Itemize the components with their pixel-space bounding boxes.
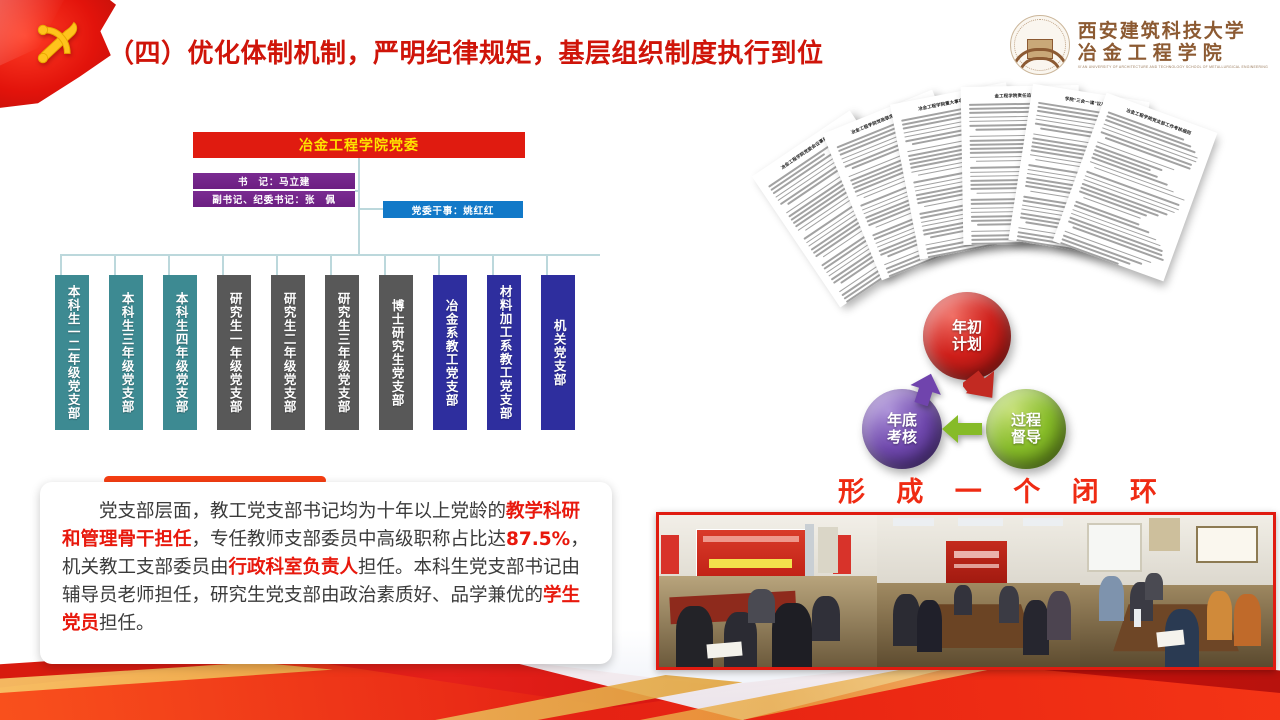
meeting-photo-strip: [656, 512, 1276, 670]
slide-canvas: （四）优化体制机制，严明纪律规矩，基层组织制度执行到位 西安建筑科技大学 冶金工…: [0, 0, 1280, 720]
body-text: ，专任教师支部委员中高级职称占比达: [192, 529, 507, 550]
institutional-documents-fan: 冶金工程学院党委会议事规则 冶金工程学院党政联席会议制度 冶金工程学院重大事项报…: [786, 92, 1256, 322]
university-seal-icon: [1010, 15, 1070, 75]
branch-meeting-classroom-photo: [659, 515, 877, 667]
arrow-green-left-icon: [941, 414, 983, 444]
org-branch-box[interactable]: 材料加工系教工党支部: [487, 275, 521, 430]
org-branch-box[interactable]: 本科生一二年级党支部: [55, 275, 89, 430]
org-node-secretary[interactable]: 书 记：马立建: [193, 173, 355, 189]
description-paragraph: 党支部层面，教工党支部书记均为十年以上党龄的教学科研和管理骨干担任，专任教师支部…: [62, 498, 592, 639]
university-logo: 西安建筑科技大学 冶金工程学院 XI'AN UNIVERSITY OF ARCH…: [1010, 14, 1268, 76]
logo-university-name: 西安建筑科技大学: [1078, 21, 1268, 43]
arrow-purple-up-icon: [909, 372, 943, 406]
highlighted-text: 87.5%: [506, 529, 570, 550]
org-node-vice-secretary[interactable]: 副书记、纪委书记：张 佩: [193, 191, 355, 207]
body-text: 党支部层面，教工党支部书记均为十年以上党龄的: [99, 501, 506, 522]
cycle-node-plan[interactable]: 年初计划: [923, 292, 1011, 380]
org-branch-box[interactable]: 本科生三年级党支部: [109, 275, 143, 430]
org-branch-box[interactable]: 研究生三年级党支部: [325, 275, 359, 430]
logo-english-name: XI'AN UNIVERSITY OF ARCHITECTURE AND TEC…: [1078, 65, 1268, 69]
red-flag-decoration: [0, 0, 116, 108]
study-session-meeting-photo: [1080, 515, 1273, 667]
org-node-clerk[interactable]: 党委干事：姚红红: [383, 201, 523, 218]
document-text-line: [1082, 183, 1168, 216]
arrow-red-down-right-icon: [963, 369, 1003, 403]
party-committee-org-chart: 冶金工程学院党委 书 记：马立建 副书记、纪委书记：张 佩 党委干事：姚红红 本…: [45, 120, 625, 440]
org-branch-box[interactable]: 博士研究生党支部: [379, 275, 413, 430]
body-text: 担任。: [99, 613, 155, 634]
logo-school-name: 冶金工程学院: [1078, 43, 1268, 65]
org-branch-box[interactable]: 冶金系教工党支部: [433, 275, 467, 430]
description-card: 党支部层面，教工党支部书记均为十年以上党龄的教学科研和管理骨干担任，专任教师支部…: [40, 482, 612, 664]
org-node-committee[interactable]: 冶金工程学院党委: [193, 132, 525, 158]
org-branch-box[interactable]: 研究生一年级党支部: [217, 275, 251, 430]
party-emblem-hammer-sickle-icon: [26, 14, 88, 74]
document-text-line: [970, 143, 1030, 146]
closed-loop-caption: 形 成 一 个 闭 环: [838, 470, 1118, 509]
document-text-line: [971, 242, 1032, 245]
party-committee-conference-photo: [877, 515, 1080, 667]
highlighted-text: 行政科室负责人: [229, 557, 359, 578]
org-branch-box[interactable]: 机关党支部: [541, 275, 575, 430]
page-title: （四）优化体制机制，严明纪律规矩，基层组织制度执行到位: [108, 33, 824, 70]
annual-cycle-diagram: 年初计划 过程督导 年底考核: [855, 292, 1085, 467]
org-branch-box[interactable]: 本科生四年级党支部: [163, 275, 197, 430]
org-branch-box[interactable]: 研究生二年级党支部: [271, 275, 305, 430]
